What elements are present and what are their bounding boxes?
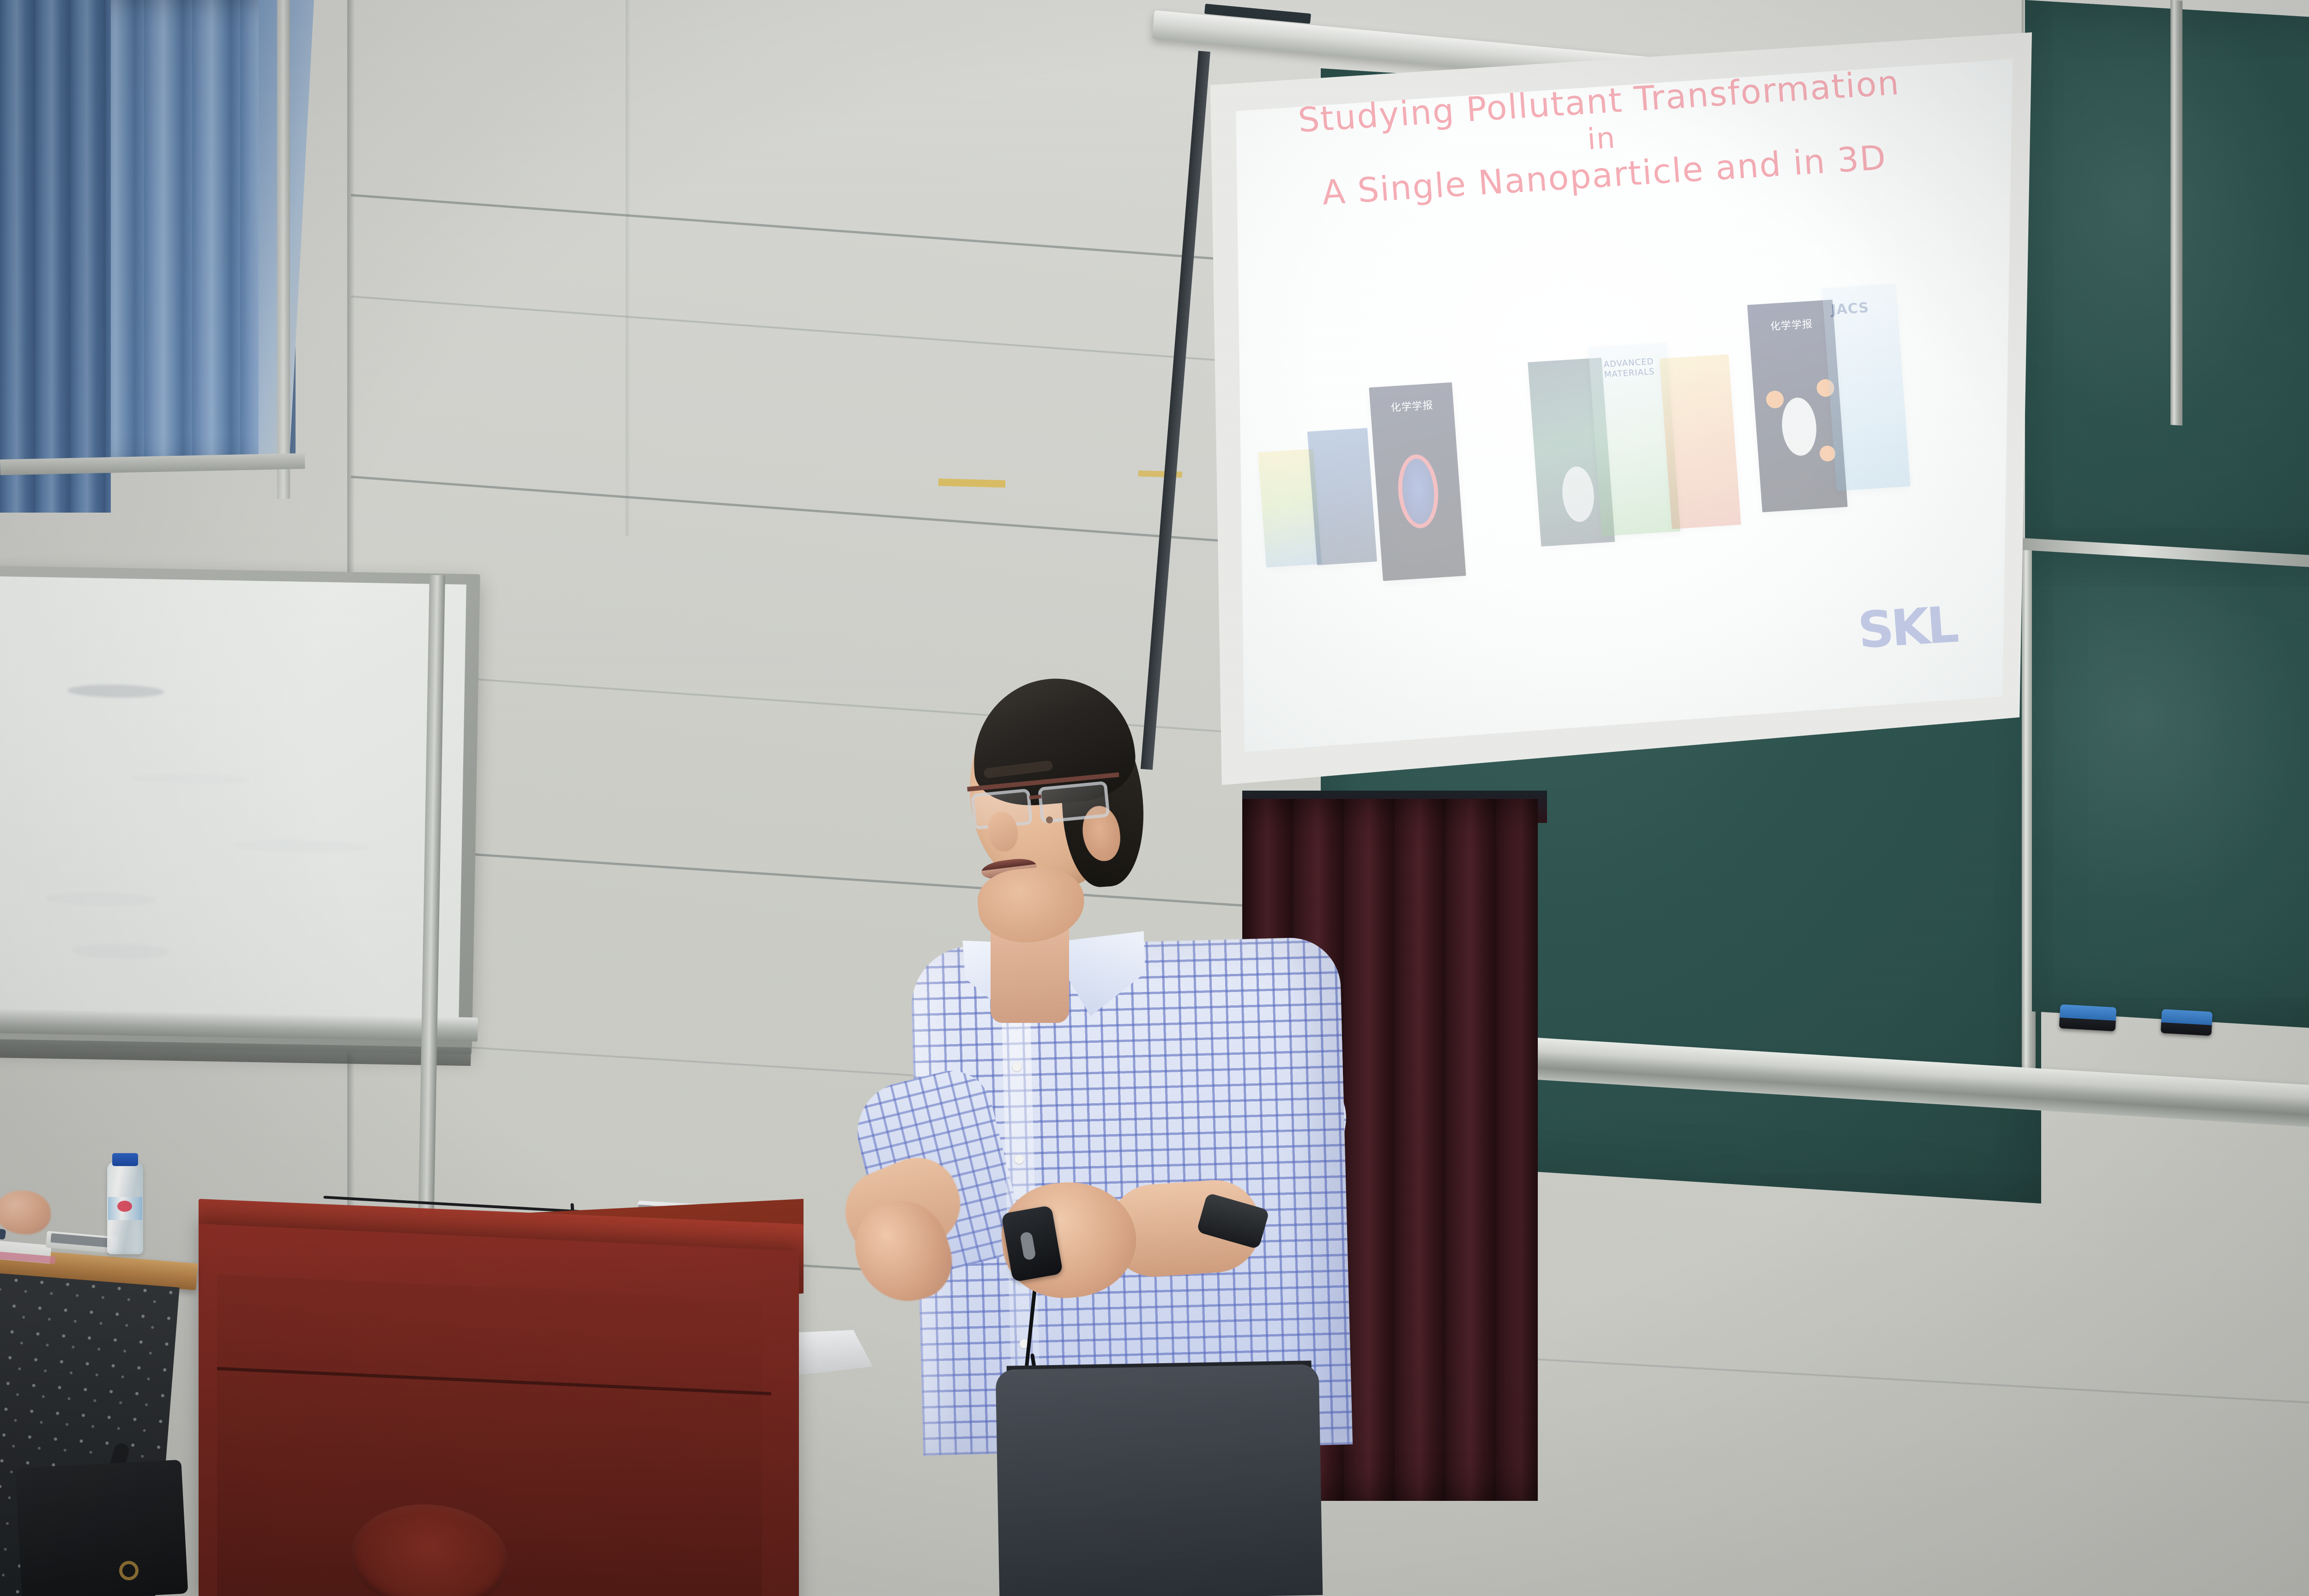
black-bag-on-floor[interactable] bbox=[15, 1460, 188, 1596]
chalkboard-eraser[interactable] bbox=[2059, 1004, 2117, 1032]
chalkboard-frame-vertical bbox=[2170, 0, 2182, 426]
window-frame bbox=[277, 0, 290, 499]
attendee-hand bbox=[0, 1191, 51, 1234]
water-bottle-cap[interactable] bbox=[112, 1153, 138, 1166]
whiteboard-surface[interactable] bbox=[0, 576, 466, 1023]
journal-cover: 化学学报 bbox=[1369, 382, 1466, 581]
bag-metal-ring bbox=[119, 1561, 139, 1580]
journal-cover: JACS bbox=[1822, 284, 1910, 491]
shirt-button bbox=[1015, 1155, 1024, 1164]
chalkboard-eraser[interactable] bbox=[2161, 1009, 2213, 1036]
speaker-facial-mark bbox=[1046, 816, 1053, 823]
journal-cover-title: 化学学报 bbox=[1748, 314, 1835, 334]
journal-cover bbox=[1659, 354, 1741, 529]
journal-cover-strip: 化学学报 ADVANCED MATERIALS 化学学报 JACS bbox=[1239, 268, 2008, 610]
chalkboard-panel-upper-right bbox=[2025, 0, 2309, 572]
journal-cover-title: JACS bbox=[1830, 299, 1875, 318]
presentation-slide: Studying Pollutant Transformation in A S… bbox=[1224, 51, 2019, 752]
skl-logo: SKL bbox=[1856, 596, 1958, 660]
blue-curtain-fold bbox=[0, 0, 111, 513]
water-bottle-logo bbox=[117, 1201, 132, 1212]
journal-cover bbox=[1307, 428, 1377, 565]
journal-cover-title: 化学学报 bbox=[1370, 396, 1454, 416]
speaker-trousers bbox=[996, 1364, 1323, 1596]
chalkboard-panel-lower-right bbox=[2032, 550, 2309, 1033]
shirt-button bbox=[1012, 1062, 1022, 1072]
journal-cover-title: ADVANCED MATERIALS bbox=[1589, 356, 1669, 381]
wall-corner-edge-secondary bbox=[626, 0, 630, 536]
lecture-hall-photo: Studying Pollutant Transformation in A S… bbox=[0, 0, 2309, 1596]
